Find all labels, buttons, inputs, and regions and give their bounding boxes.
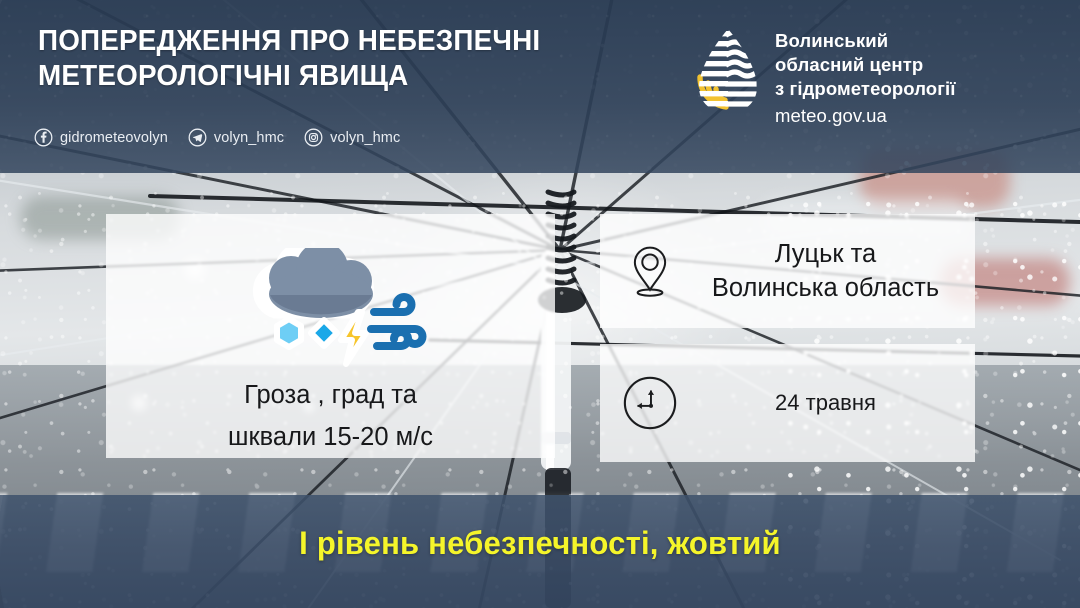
map-pin-icon [614,244,686,299]
telegram-icon [188,128,207,147]
location-text: Луцьк та Волинська область [686,237,965,305]
header-band: ПОПЕРЕДЖЕННЯ ПРО НЕБЕЗПЕЧНІ МЕТЕОРОЛОГІЧ… [0,0,1080,173]
social-handle: volyn_hmc [214,130,284,146]
social-link-instagram[interactable]: volyn_hmc [304,128,400,147]
clock-icon [614,374,686,432]
social-links: gidrometeovolyn volyn_hmc [34,128,400,147]
thunderstorm-hail-wind-icon [229,248,434,368]
social-handle: volyn_hmc [330,130,400,146]
weather-phenomenon-text: Гроза , град та шквали 15-20 м/с [106,374,555,458]
footer-band: І рівень небезпечності, жовтий [0,495,1080,608]
droplet-waves-logo-icon [695,27,761,115]
logo-line-3: з гідрометеорології [775,77,956,101]
weather-phenomenon-card: Гроза , град та шквали 15-20 м/с [106,214,555,458]
date-text-wrap: 24 травня [686,389,975,417]
danger-level-text: І рівень небезпечності, жовтий [16,525,1064,562]
page-title: ПОПЕРЕДЖЕННЯ ПРО НЕБЕЗПЕЧНІ МЕТЕОРОЛОГІЧ… [38,24,540,94]
logo-website-url[interactable]: meteo.gov.ua [775,103,956,128]
date-text: 24 травня [686,389,965,417]
location-text-wrap: Луцьк та Волинська область [686,237,975,305]
social-handle: gidrometeovolyn [60,130,168,146]
social-link-telegram[interactable]: volyn_hmc [188,128,284,147]
instagram-icon [304,128,323,147]
logo-line-2: обласний центр [775,53,956,77]
organization-logo: Волинський обласний центр з гідрометеоро… [695,27,956,128]
logo-line-1: Волинський [775,29,956,53]
social-link-facebook[interactable]: gidrometeovolyn [34,128,168,147]
facebook-icon [34,128,53,147]
infographic-canvas: ПОПЕРЕДЖЕННЯ ПРО НЕБЕЗПЕЧНІ МЕТЕОРОЛОГІЧ… [0,0,1080,608]
date-card: 24 травня [600,344,975,462]
location-card: Луцьк та Волинська область [600,214,975,328]
